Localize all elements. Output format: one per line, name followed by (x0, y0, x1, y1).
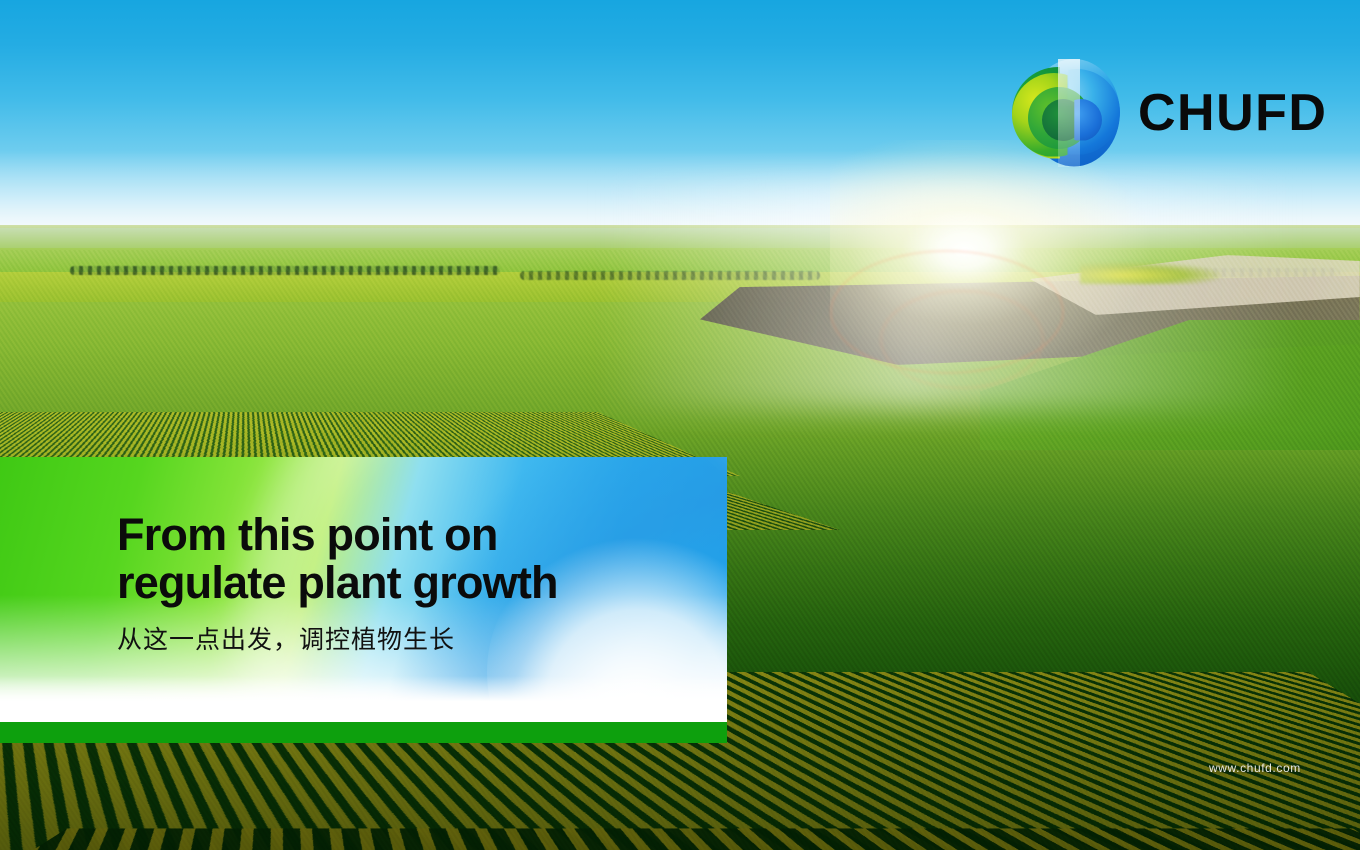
chufd-circle-logo-icon (1012, 59, 1120, 167)
crop-rows-foreground (0, 828, 1360, 850)
hero-text-card: From this point on regulate plant growth… (0, 457, 727, 722)
page-title: From this point on regulate plant growth (117, 511, 727, 606)
card-green-accent-bar (0, 722, 727, 743)
presentation-slide: CHUFD From this point on regulate plant … (0, 0, 1360, 850)
hero-text-content: From this point on regulate plant growth… (0, 457, 727, 656)
card-white-base (0, 676, 727, 722)
logo-highlight-band (1058, 59, 1080, 167)
brand-logo[interactable]: CHUFD (1012, 55, 1302, 170)
brand-wordmark: CHUFD (1138, 87, 1327, 139)
page-subtitle: 从这一点出发，调控植物生长 (117, 620, 727, 656)
website-url[interactable]: www.chufd.com (1209, 761, 1301, 775)
